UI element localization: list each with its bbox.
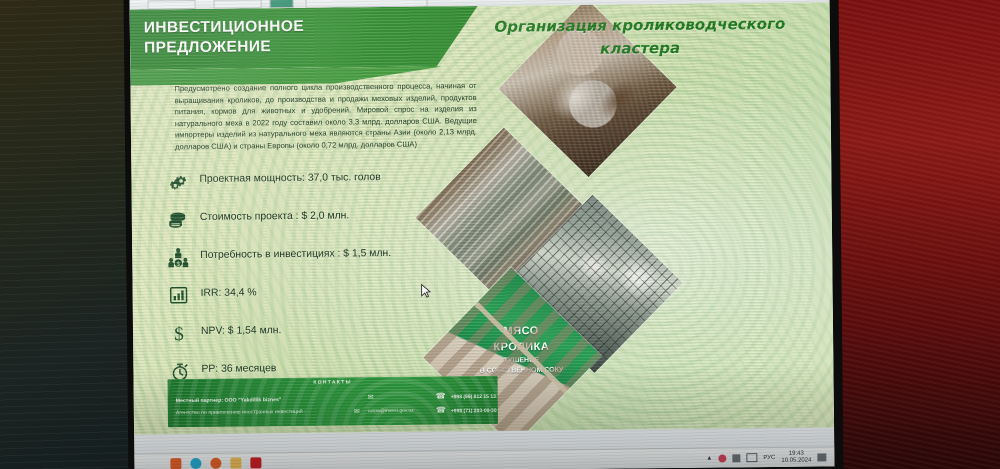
chrome-button-3[interactable] <box>270 0 294 8</box>
bullet-label: Потребность в инвестициях : $ 1,5 млн. <box>200 243 391 263</box>
taskbar-app-icons <box>134 457 261 469</box>
taskbar-clock[interactable]: 19:43 10.05.2024 <box>781 450 811 464</box>
bullet-npv: $ NPV: $ 1,54 млн. <box>167 318 497 355</box>
background-wall-red-right <box>830 0 1000 469</box>
contacts-title: КОНТАКТЫ <box>168 378 498 387</box>
can-label-line3: ТУШЕНОЕ <box>504 357 540 364</box>
bullet-label: Стоимость проекта : $ 2,0 млн. <box>200 205 350 224</box>
envelope-icon: ✉ <box>354 407 360 415</box>
chevron-up-icon[interactable]: ▲ <box>706 455 712 461</box>
contacts-phone-2: +998 (71) 203-00-30 <box>451 408 497 414</box>
gears-icon <box>165 169 189 193</box>
system-tray: ▲ РУС 19:43 10.05.2024 <box>706 450 834 465</box>
slide-main-title: Организация кролиководческого кластера <box>490 13 790 61</box>
taskbar-app-pdf[interactable] <box>250 457 261 468</box>
notification-icon[interactable] <box>817 453 826 461</box>
svg-text:$: $ <box>174 324 184 344</box>
bullet-label: NPV: $ 1,54 млн. <box>201 320 282 339</box>
mouse-cursor <box>421 284 432 300</box>
slide-paragraph: Предусмотрено создание полного цикла про… <box>174 80 477 153</box>
tray-icon-display[interactable] <box>746 453 757 462</box>
bullet-label: Проектная мощность: 37,0 тыс. голов <box>199 167 380 187</box>
contacts-phone-1: +998 (99) 812 15 13 <box>451 394 496 400</box>
envelope-icon: ✉ <box>368 393 374 401</box>
bullet-irr: IRR: 34,4 % <box>167 280 497 317</box>
telephone-icon: ☎ <box>436 391 446 400</box>
monitor-screen: МЯСО КРОЛИКА ТУШЕНОЕ В СОБСТВЕННОМ СОКУ … <box>130 0 835 469</box>
bullet-project-capacity: Проектная мощность: 37,0 тыс. голов <box>165 166 495 203</box>
telephone-icon: ☎ <box>436 405 446 414</box>
contacts-partner: Местный партнер: ООО "Yakdillik biznes" <box>176 397 282 404</box>
coins-icon <box>166 207 190 231</box>
taskbar-app-2[interactable] <box>190 458 201 469</box>
powerpoint-slide: МЯСО КРОЛИКА ТУШЕНОЕ В СОБСТВЕННОМ СОКУ … <box>130 2 834 434</box>
clock-date: 10.05.2024 <box>781 457 811 463</box>
taskbar-app-3[interactable] <box>210 458 221 469</box>
contacts-agency: Агентство по привлечению иностранных инв… <box>176 409 306 416</box>
taskbar-app-4[interactable] <box>230 458 241 469</box>
language-indicator[interactable]: РУС <box>763 454 775 460</box>
taskbar-app-1[interactable] <box>170 458 181 469</box>
bullet-label: PP: 36 месяцев <box>201 358 276 377</box>
bullet-label: IRR: 34,4 % <box>201 282 257 300</box>
bar-chart-icon <box>167 283 191 307</box>
contacts-email[interactable]: uzipa@invest.gov.uz <box>368 408 414 414</box>
dollar-icon: $ <box>167 321 191 345</box>
windows-taskbar[interactable]: ▲ РУС 19:43 10.05.2024 <box>134 446 834 469</box>
contacts-footer: КОНТАКТЫ Местный партнер: ООО "Yakdillik… <box>168 376 498 427</box>
bullet-investment-need: $ Потребность в инвестициях : $ 1,5 млн. <box>166 242 496 279</box>
bullet-project-cost: Стоимость проекта : $ 2,0 млн. <box>166 204 496 241</box>
tray-icon-network[interactable] <box>732 454 740 462</box>
photographed-monitor-scene: МЯСО КРОЛИКА ТУШЕНОЕ В СОБСТВЕННОМ СОКУ … <box>0 0 1000 469</box>
tray-icon-red[interactable] <box>718 454 726 462</box>
slide-header-title: ИНВЕСТИЦИОННОЕ ПРЕДЛОЖЕНИЕ <box>144 15 464 58</box>
clock-time: 19:43 <box>789 450 804 456</box>
investors-icon: $ <box>166 245 190 269</box>
